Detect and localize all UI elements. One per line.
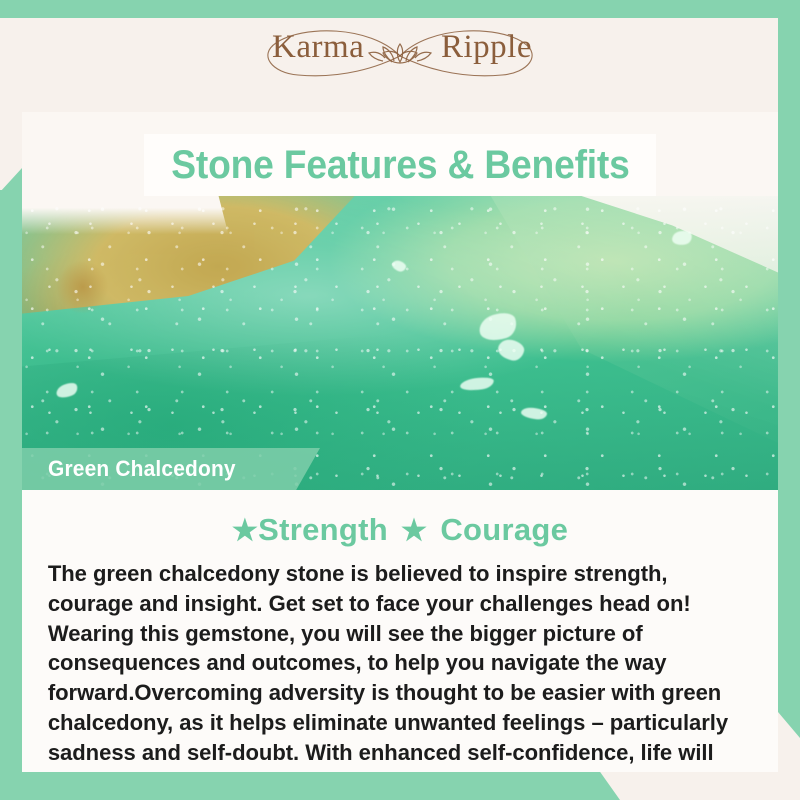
- brand-name-left: Karma: [272, 31, 364, 64]
- title-banner: Stone Features & Benefits: [144, 134, 656, 196]
- keyword-strength: Strength: [258, 512, 388, 547]
- page-title: Stone Features & Benefits: [171, 143, 629, 188]
- stone-photo: Green Chalcedony: [22, 196, 778, 490]
- frame-border-left-tip: [0, 168, 22, 192]
- stone-name-text: Green Chalcedony: [48, 456, 236, 482]
- star-icon: ★: [232, 515, 258, 547]
- frame-border-top: [0, 0, 800, 18]
- description-paragraph: The green chalcedony stone is believed t…: [36, 559, 753, 797]
- keyword-courage: Courage: [440, 512, 568, 547]
- frame-border-right-tip: [778, 712, 800, 738]
- brand-logo: Karma Ripple: [250, 17, 550, 95]
- keyword-row: ★Strength★Courage: [36, 512, 764, 548]
- frame-border-right: [778, 0, 800, 712]
- stone-speckle-texture: [22, 196, 778, 490]
- content-panel: ★Strength★Courage The green chalcedony s…: [22, 490, 778, 772]
- frame-border-bottom: [0, 772, 620, 800]
- brand-name-right: Ripple: [441, 31, 532, 64]
- stone-name-label: Green Chalcedony: [22, 448, 320, 490]
- star-icon: ★: [401, 515, 427, 547]
- frame-border-left: [0, 190, 22, 775]
